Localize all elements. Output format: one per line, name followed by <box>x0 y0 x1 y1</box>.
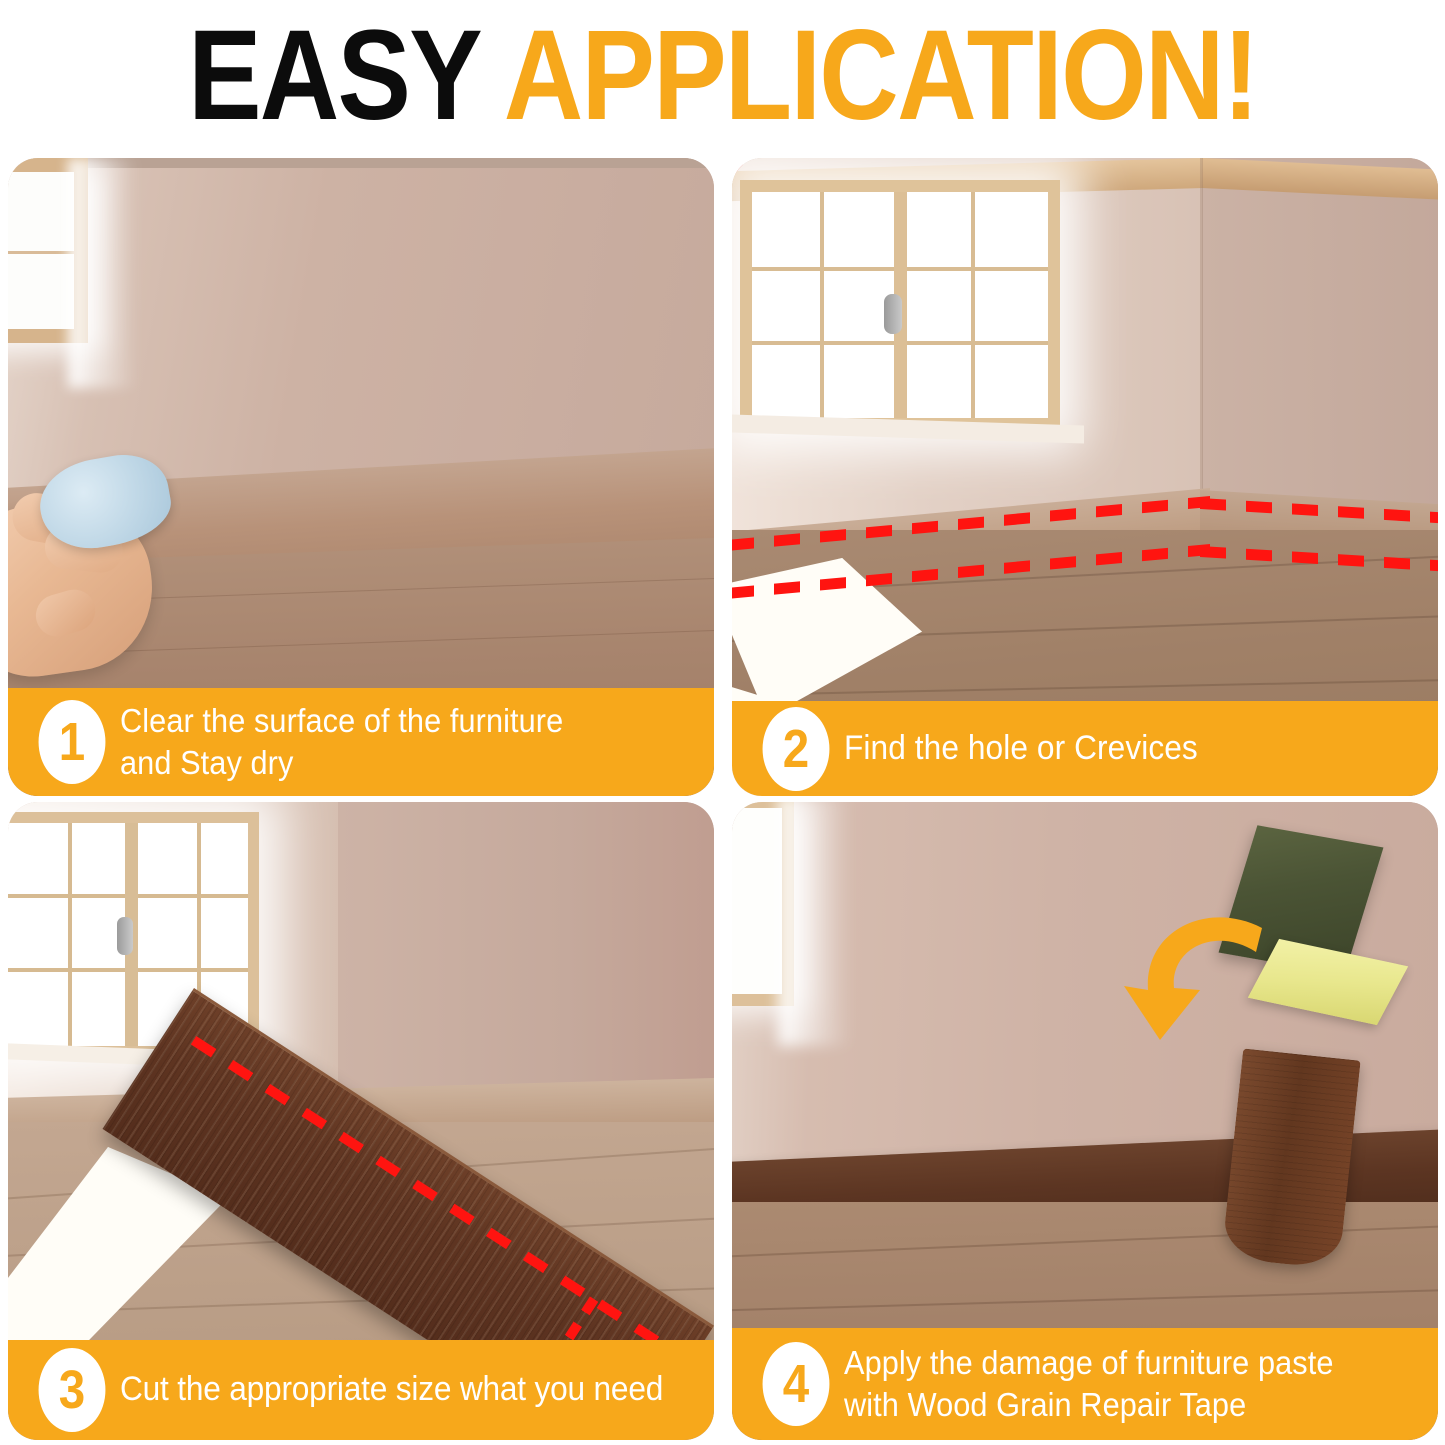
page-title-application: APPLICATION! <box>503 4 1257 147</box>
window-light-glow <box>68 158 138 388</box>
step-2-text: Find the hole or Crevices <box>844 727 1198 771</box>
step-4-caption: 4 Apply the damage of furniture paste wi… <box>732 1328 1438 1440</box>
step-3-caption: 3 Cut the appropriate size what you need <box>8 1340 714 1440</box>
step-1-text: Clear the surface of the furniture and S… <box>120 700 563 784</box>
step-4-text: Apply the damage of furniture paste with… <box>844 1342 1333 1426</box>
window <box>740 180 1060 430</box>
page-title-easy: EASY <box>188 4 504 147</box>
step-card-3[interactable]: 3 Cut the appropriate size what you need <box>8 802 714 1440</box>
window-light-glow <box>778 802 852 1046</box>
page-title: EASY APPLICATION! <box>188 12 1258 140</box>
step-2-caption: 2 Find the hole or Crevices <box>732 701 1438 796</box>
step-3-text: Cut the appropriate size what you need <box>120 1368 663 1412</box>
peel-arrow-icon <box>1104 882 1304 1082</box>
step-card-4[interactable]: 4 Apply the damage of furniture paste wi… <box>732 802 1438 1440</box>
step-1-badge: 1 <box>39 700 106 784</box>
steps-grid: 1 Clear the surface of the furniture and… <box>8 158 1438 1440</box>
step-1-caption: 1 Clear the surface of the furniture and… <box>8 688 714 796</box>
step-4-badge: 4 <box>763 1342 830 1426</box>
step-2-badge: 2 <box>763 707 830 791</box>
page-header: EASY APPLICATION! <box>0 0 1445 152</box>
step-card-1[interactable]: 1 Clear the surface of the furniture and… <box>8 158 714 796</box>
step-3-badge: 3 <box>39 1348 106 1432</box>
step-card-2[interactable]: 2 Find the hole or Crevices <box>732 158 1438 796</box>
window-handle-icon <box>884 294 902 334</box>
window-handle-icon <box>117 917 133 955</box>
